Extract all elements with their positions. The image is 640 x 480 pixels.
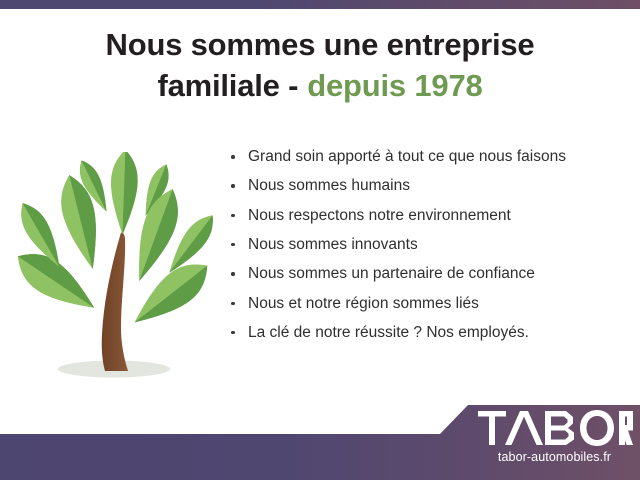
bullet-dot (231, 184, 235, 188)
list-item-label: Nous respectons notre environnement (248, 207, 511, 224)
logo-tagline: tabor-automobiles.fr (478, 450, 631, 464)
tree-illustration (8, 152, 223, 390)
list-item-label: Nous sommes un partenaire de confiance (248, 265, 535, 282)
page-title: Nous sommes une entreprise familiale -de… (0, 24, 640, 106)
list-item: La clé de notre réussite ? Nos employés. (228, 324, 628, 342)
brand-logo: tabor-automobiles.fr (478, 409, 638, 471)
bullet-dot (231, 243, 235, 247)
list-item: Nous sommes humains (228, 177, 628, 195)
list-item-label: Nous et notre région sommes liés (248, 295, 479, 312)
list-item: Nous et notre région sommes liés (228, 295, 628, 313)
bullet-dot (231, 272, 235, 276)
list-item-label: Nous sommes innovants (248, 236, 418, 253)
list-item: Nous sommes un partenaire de confiance (228, 265, 628, 283)
list-item-label: Grand soin apporté à tout ce que nous fa… (248, 148, 566, 165)
top-accent-strip (0, 0, 640, 9)
list-item: Nous respectons notre environnement (228, 207, 628, 225)
bullet-dot (231, 331, 235, 335)
headline-line-2: familiale -depuis 1978 (0, 65, 640, 106)
bullet-dot (231, 214, 235, 218)
headline-line-2-main: familiale - (157, 68, 298, 103)
list-item: Nous sommes innovants (228, 236, 628, 254)
list-item-label: La clé de notre réussite ? Nos employés. (248, 324, 529, 341)
bullet-dot (231, 155, 235, 159)
list-item: Grand soin apporté à tout ce que nous fa… (228, 148, 628, 166)
slide-canvas: Nous sommes une entreprise familiale -de… (0, 0, 640, 480)
benefits-list: Grand soin apporté à tout ce que nous fa… (228, 148, 628, 353)
headline-accent: depuis 1978 (307, 68, 482, 103)
list-item-label: Nous sommes humains (248, 177, 410, 194)
headline-line-1: Nous sommes une entreprise (0, 24, 640, 65)
tree-trunk (102, 232, 128, 371)
bullet-dot (231, 302, 235, 306)
tabor-wordmark (478, 409, 633, 449)
